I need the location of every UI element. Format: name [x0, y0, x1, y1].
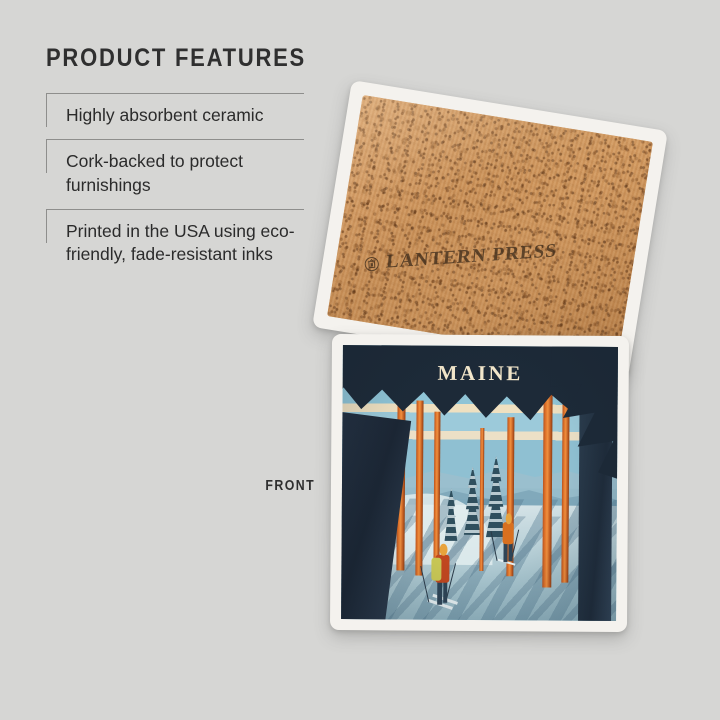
- front-label: FRONT: [265, 478, 315, 494]
- feature-divider: [46, 209, 304, 210]
- feature-tick: [46, 209, 47, 243]
- feature-divider: [46, 93, 304, 94]
- feature-text: Cork-backed to protect furnishings: [66, 150, 304, 197]
- coaster-artwork: MAINE: [341, 345, 618, 621]
- product-features-panel: PRODUCT FEATURES Highly absorbent cerami…: [46, 44, 304, 278]
- feature-tick: [46, 139, 47, 173]
- feature-tick: [46, 93, 47, 127]
- feature-item: Highly absorbent ceramic: [46, 93, 304, 139]
- feature-item: Cork-backed to protect furnishings: [46, 139, 304, 209]
- coaster-front: MAINE: [330, 334, 629, 632]
- lantern-icon: [364, 256, 380, 272]
- cork-backing: LANTERN PRESS: [327, 95, 653, 363]
- cork-shading: [327, 95, 653, 363]
- coaster-ceramic-edge: MAINE: [330, 334, 629, 632]
- feature-text: Highly absorbent ceramic: [66, 104, 304, 127]
- feature-item: Printed in the USA using eco-friendly, f…: [46, 209, 304, 279]
- product-feature-composite: PRODUCT FEATURES Highly absorbent cerami…: [0, 0, 720, 720]
- page-title: PRODUCT FEATURES: [46, 44, 273, 73]
- artwork-vignette: [341, 345, 618, 621]
- feature-text: Printed in the USA using eco-friendly, f…: [66, 220, 304, 267]
- feature-divider: [46, 139, 304, 140]
